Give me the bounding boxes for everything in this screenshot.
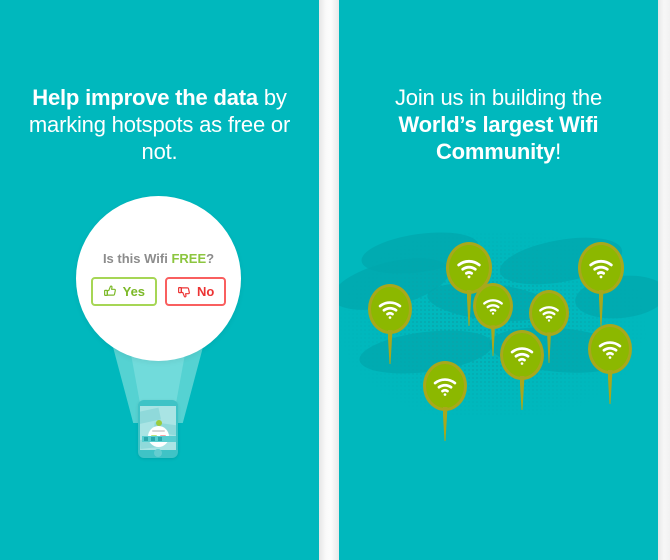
panel-divider xyxy=(319,0,339,560)
smartphone-illustration xyxy=(138,400,178,458)
map-pin-pin-7[interactable] xyxy=(588,324,632,374)
wifi-icon xyxy=(456,255,482,281)
wifi-icon xyxy=(598,337,623,362)
pin-head xyxy=(588,324,632,374)
phone-toolbar-icon xyxy=(144,437,148,441)
pin-head xyxy=(368,284,412,334)
onboarding-screens: Help improve the data by marking hotspot… xyxy=(0,0,670,560)
phone-popup-text-line xyxy=(152,430,165,432)
headline-right-bold: World’s largest Wifi Community xyxy=(399,112,599,164)
thumbs-up-icon xyxy=(103,284,118,299)
world-map-dotted-icon xyxy=(339,232,658,417)
headline-right: Join us in building the World’s largest … xyxy=(339,84,658,165)
map-pin-pin-8[interactable] xyxy=(423,361,467,411)
prompt-question-suffix: ? xyxy=(206,251,214,266)
map-pin-pin-3[interactable] xyxy=(473,283,513,329)
map-pin-pin-6[interactable] xyxy=(500,330,544,380)
wifi-icon xyxy=(588,255,614,281)
pin-head xyxy=(473,283,513,329)
wifi-icon xyxy=(510,343,535,368)
vote-no-button[interactable]: No xyxy=(165,277,226,306)
panel-right: Join us in building the World’s largest … xyxy=(339,0,658,560)
phone-toolbar-icon xyxy=(158,437,162,441)
wifi-icon xyxy=(433,374,458,399)
headline-left: Help improve the data by marking hotspot… xyxy=(0,84,319,165)
vote-yes-button[interactable]: Yes xyxy=(91,277,157,306)
vote-button-row: Yes No xyxy=(91,277,227,306)
headline-right-suffix: ! xyxy=(555,139,561,164)
prompt-question-highlight: FREE xyxy=(171,251,206,266)
prompt-question: Is this Wifi FREE? xyxy=(103,251,214,266)
wifi-icon xyxy=(378,297,403,322)
map-pin-pin-2[interactable] xyxy=(368,284,412,334)
pin-head xyxy=(578,242,624,294)
wifi-icon xyxy=(538,302,560,324)
prompt-question-prefix: Is this Wifi xyxy=(103,251,172,266)
screen-right-edge xyxy=(658,0,670,560)
wifi-free-prompt-bubble: Is this Wifi FREE? Yes xyxy=(76,196,241,361)
panel-left: Help improve the data by marking hotspot… xyxy=(0,0,319,560)
vote-yes-label: Yes xyxy=(123,284,145,299)
thumbs-down-icon xyxy=(177,284,192,299)
pin-head xyxy=(500,330,544,380)
pin-head xyxy=(423,361,467,411)
pin-stem xyxy=(443,407,448,441)
headline-right-prefix: Join us in building the xyxy=(395,85,602,110)
map-pin-pin-5[interactable] xyxy=(578,242,624,294)
phone-toolbar-icon xyxy=(151,437,155,441)
phone-screen xyxy=(140,406,176,450)
phone-home-button xyxy=(154,449,162,457)
headline-left-bold: Help improve the data xyxy=(32,85,258,110)
phone-toolbar xyxy=(142,436,176,442)
vote-no-label: No xyxy=(197,284,214,299)
wifi-icon xyxy=(482,295,504,317)
